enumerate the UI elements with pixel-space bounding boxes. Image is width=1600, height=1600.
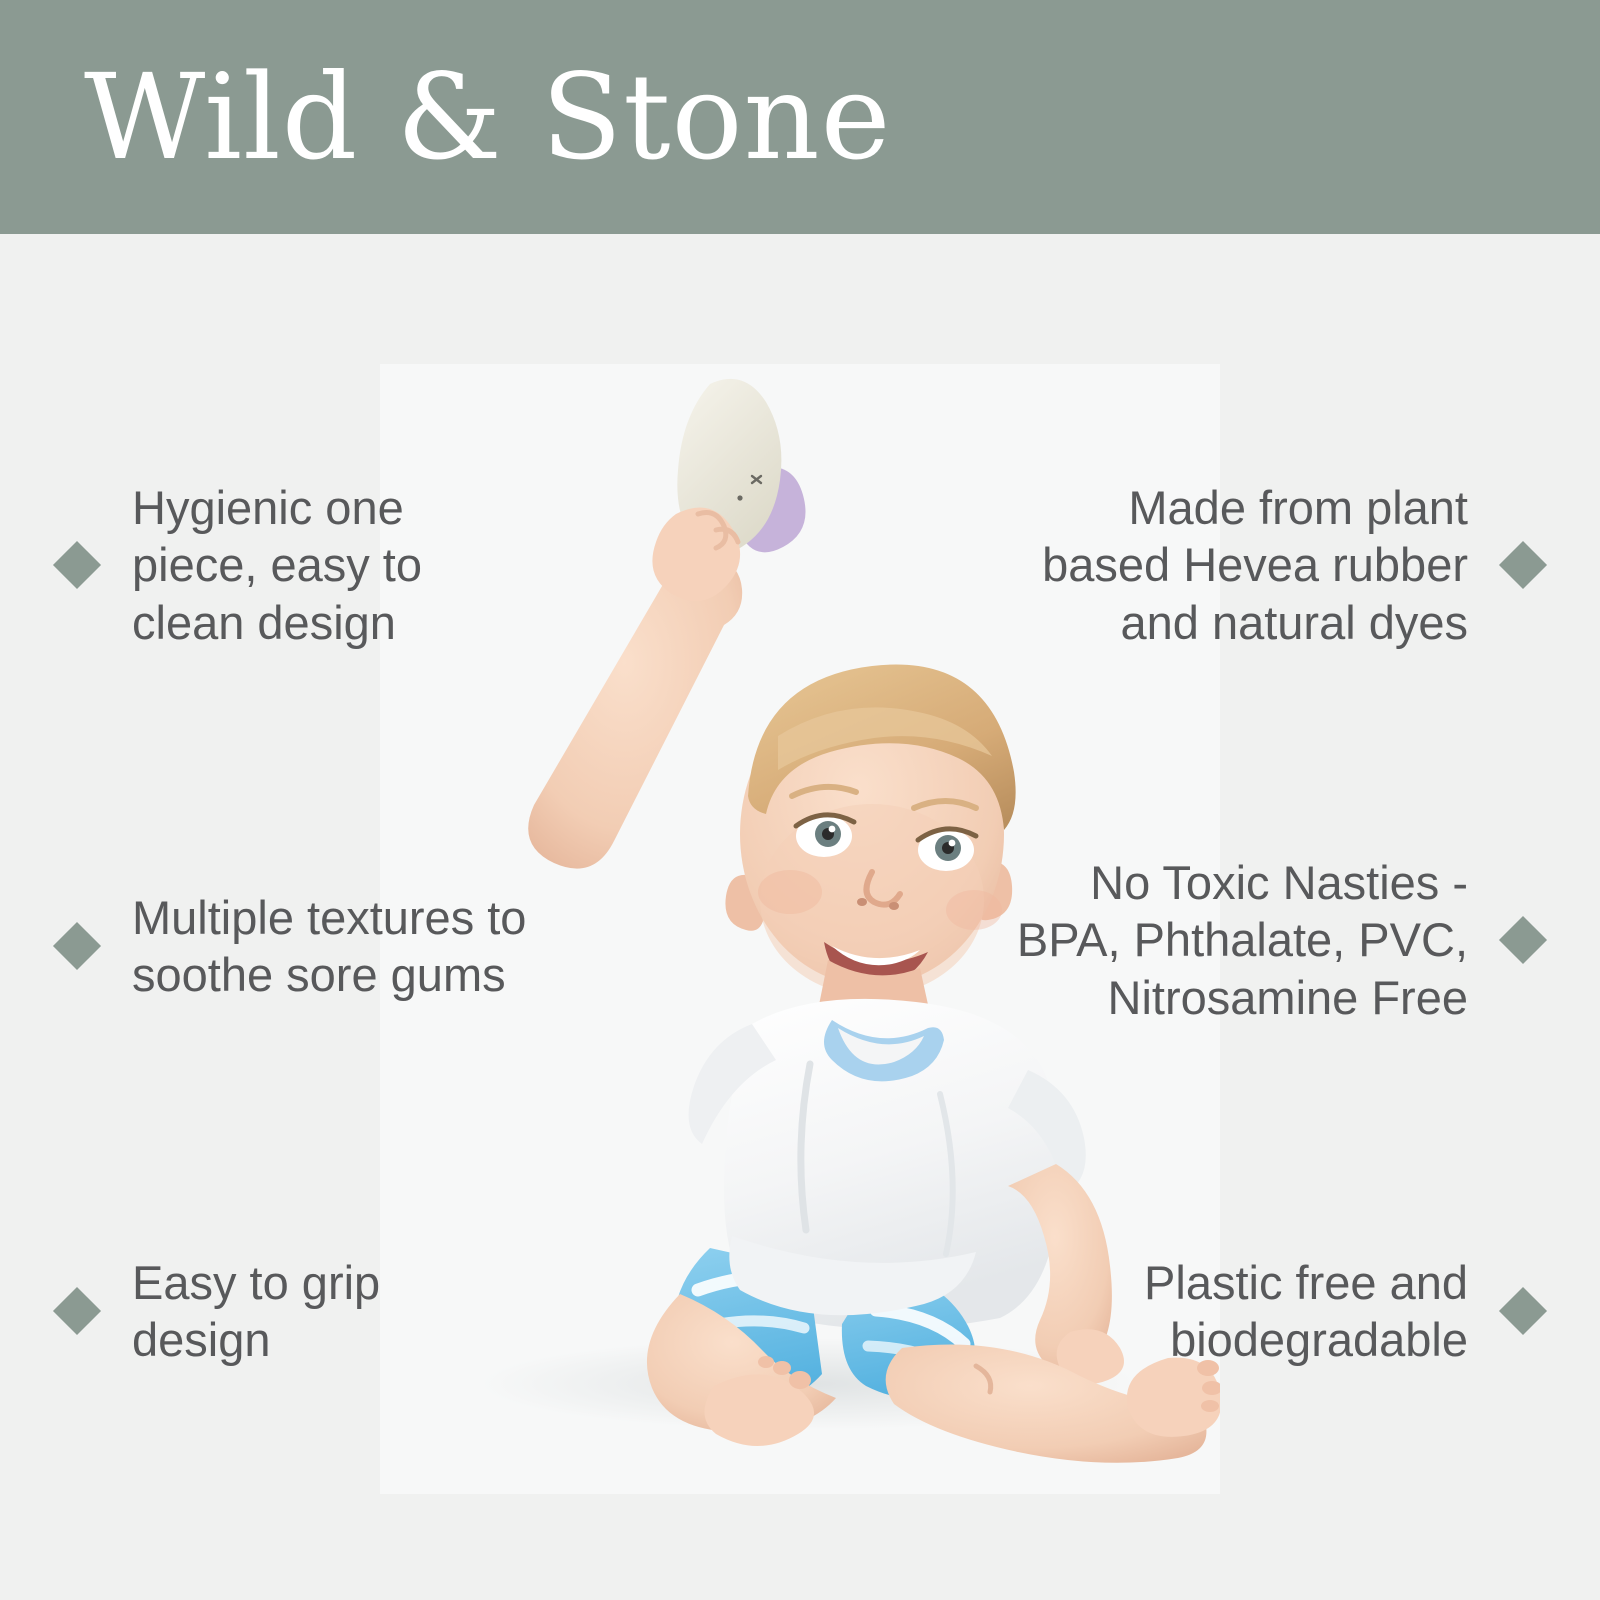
diamond-bullet-icon (1499, 916, 1547, 964)
diamond-bullet-icon (1499, 1287, 1547, 1335)
feature-no-toxic-nasties: No Toxic Nasties - BPA, Phthalate, PVC, … (980, 854, 1540, 1026)
diamond-bullet-icon (53, 1287, 101, 1335)
feature-label: Made from plant based Hevea rubber and n… (1042, 479, 1468, 651)
diamond-bullet-icon (53, 541, 101, 589)
feature-easy-to-grip: Easy to grip design (60, 1254, 620, 1369)
feature-plastic-free: Plastic free and biodegradable (980, 1254, 1540, 1369)
feature-hygienic-one-piece: Hygienic one piece, easy to clean design (60, 479, 620, 651)
feature-plant-based-rubber: Made from plant based Hevea rubber and n… (980, 479, 1540, 651)
feature-label: Hygienic one piece, easy to clean design (132, 479, 422, 651)
diamond-bullet-icon (1499, 541, 1547, 589)
feature-label: Multiple textures to soothe sore gums (132, 889, 526, 1004)
diamond-bullet-icon (53, 922, 101, 970)
brand-header: Wild & Stone (0, 0, 1600, 234)
feature-label: Plastic free and biodegradable (1144, 1254, 1468, 1369)
brand-title: Wild & Stone (84, 58, 891, 176)
feature-label: No Toxic Nasties - BPA, Phthalate, PVC, … (1017, 854, 1468, 1026)
feature-grid: Smiling baby sitting and holding a teeth… (0, 234, 1600, 1600)
feature-multiple-textures: Multiple textures to soothe sore gums (60, 889, 620, 1004)
feature-label: Easy to grip design (132, 1254, 380, 1369)
